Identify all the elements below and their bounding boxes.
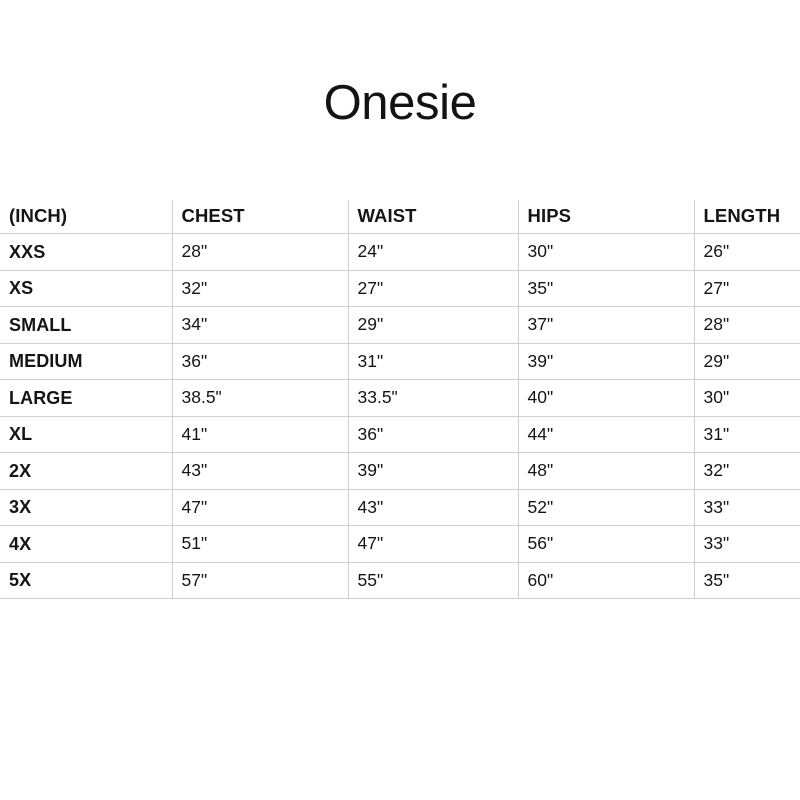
table-header: (INCH) CHEST WAIST HIPS LENGTH	[0, 200, 800, 234]
cell-size: 4X	[0, 526, 172, 563]
cell-length: 27"	[694, 270, 800, 307]
table-row: LARGE 38.5" 33.5" 40" 30"	[0, 380, 800, 417]
table-row: 4X 51" 47" 56" 33"	[0, 526, 800, 563]
table-row: MEDIUM 36" 31" 39" 29"	[0, 343, 800, 380]
cell-size: 3X	[0, 489, 172, 526]
cell-hips: 35"	[518, 270, 694, 307]
cell-chest: 28"	[172, 234, 348, 271]
cell-hips: 60"	[518, 562, 694, 599]
table-row: 5X 57" 55" 60" 35"	[0, 562, 800, 599]
column-header-length: LENGTH	[694, 200, 800, 234]
table-row: XXS 28" 24" 30" 26"	[0, 234, 800, 271]
page-title: Onesie	[0, 79, 800, 128]
cell-length: 31"	[694, 416, 800, 453]
cell-waist: 47"	[348, 526, 518, 563]
cell-chest: 36"	[172, 343, 348, 380]
cell-length: 28"	[694, 307, 800, 344]
cell-hips: 37"	[518, 307, 694, 344]
cell-waist: 27"	[348, 270, 518, 307]
table-header-row: (INCH) CHEST WAIST HIPS LENGTH	[0, 200, 800, 234]
cell-chest: 34"	[172, 307, 348, 344]
table-row: XS 32" 27" 35" 27"	[0, 270, 800, 307]
cell-chest: 51"	[172, 526, 348, 563]
cell-waist: 31"	[348, 343, 518, 380]
cell-size: XS	[0, 270, 172, 307]
column-header-hips: HIPS	[518, 200, 694, 234]
cell-chest: 47"	[172, 489, 348, 526]
column-header-unit: (INCH)	[0, 200, 172, 234]
cell-hips: 52"	[518, 489, 694, 526]
column-header-waist: WAIST	[348, 200, 518, 234]
size-chart-table-container: (INCH) CHEST WAIST HIPS LENGTH XXS 28" 2…	[0, 200, 800, 599]
cell-size: MEDIUM	[0, 343, 172, 380]
cell-chest: 32"	[172, 270, 348, 307]
cell-hips: 44"	[518, 416, 694, 453]
cell-chest: 57"	[172, 562, 348, 599]
cell-waist: 55"	[348, 562, 518, 599]
cell-hips: 56"	[518, 526, 694, 563]
cell-size: XXS	[0, 234, 172, 271]
cell-chest: 38.5"	[172, 380, 348, 417]
cell-chest: 41"	[172, 416, 348, 453]
cell-waist: 24"	[348, 234, 518, 271]
cell-size: XL	[0, 416, 172, 453]
table-row: SMALL 34" 29" 37" 28"	[0, 307, 800, 344]
cell-waist: 33.5"	[348, 380, 518, 417]
cell-length: 33"	[694, 526, 800, 563]
cell-size: SMALL	[0, 307, 172, 344]
cell-waist: 29"	[348, 307, 518, 344]
cell-size: 5X	[0, 562, 172, 599]
cell-hips: 30"	[518, 234, 694, 271]
table-body: XXS 28" 24" 30" 26" XS 32" 27" 35" 27" S…	[0, 234, 800, 599]
table-row: 3X 47" 43" 52" 33"	[0, 489, 800, 526]
cell-waist: 43"	[348, 489, 518, 526]
cell-hips: 39"	[518, 343, 694, 380]
cell-waist: 39"	[348, 453, 518, 490]
cell-waist: 36"	[348, 416, 518, 453]
cell-length: 29"	[694, 343, 800, 380]
cell-hips: 48"	[518, 453, 694, 490]
cell-hips: 40"	[518, 380, 694, 417]
cell-chest: 43"	[172, 453, 348, 490]
cell-length: 26"	[694, 234, 800, 271]
size-chart-table: (INCH) CHEST WAIST HIPS LENGTH XXS 28" 2…	[0, 200, 800, 599]
cell-length: 32"	[694, 453, 800, 490]
table-row: XL 41" 36" 44" 31"	[0, 416, 800, 453]
cell-length: 30"	[694, 380, 800, 417]
cell-length: 35"	[694, 562, 800, 599]
cell-size: 2X	[0, 453, 172, 490]
table-row: 2X 43" 39" 48" 32"	[0, 453, 800, 490]
cell-length: 33"	[694, 489, 800, 526]
column-header-chest: CHEST	[172, 200, 348, 234]
cell-size: LARGE	[0, 380, 172, 417]
